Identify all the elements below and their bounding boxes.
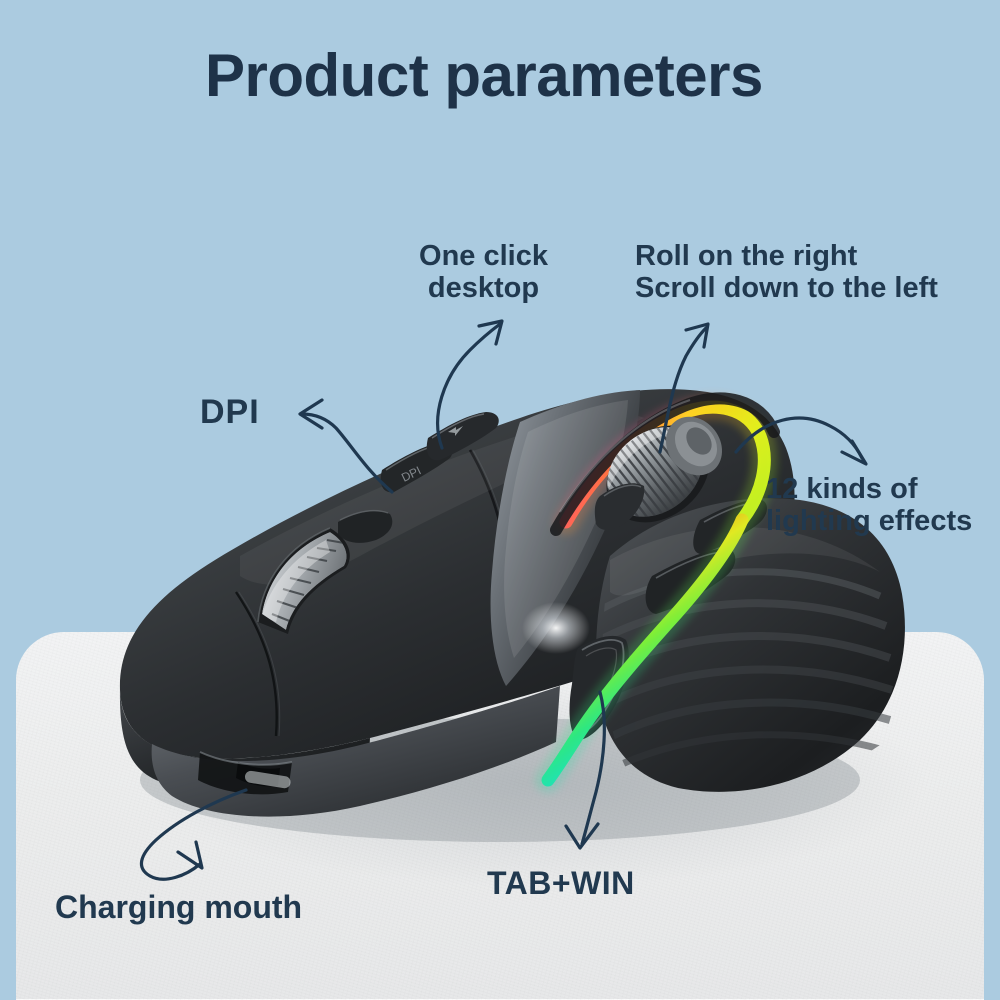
callout-lighting-line1: 12 kinds of [766, 473, 972, 505]
callout-one-click-line1: One click [396, 240, 571, 272]
callout-dpi-line1: DPI [200, 393, 260, 431]
callout-roll-line1: Roll on the right [635, 240, 938, 272]
callout-label-charging: Charging mouth [55, 890, 302, 926]
desk-texture [16, 632, 984, 1000]
callout-label-one-click: One click desktop [396, 240, 571, 305]
infographic-canvas: DPI [0, 0, 1000, 1000]
callout-label-tabwin: TAB+WIN [487, 866, 635, 902]
page-title: Product parameters [205, 44, 763, 107]
callout-label-lighting: 12 kinds of lighting effects [766, 473, 972, 538]
callout-one-click-line2: desktop [396, 272, 571, 304]
callout-lighting-line2: lighting effects [766, 505, 972, 537]
callout-roll-line2: Scroll down to the left [635, 272, 938, 304]
callout-label-roll: Roll on the right Scroll down to the lef… [635, 240, 938, 305]
desk-surface [16, 632, 984, 1000]
callout-label-dpi: DPI [200, 393, 260, 431]
